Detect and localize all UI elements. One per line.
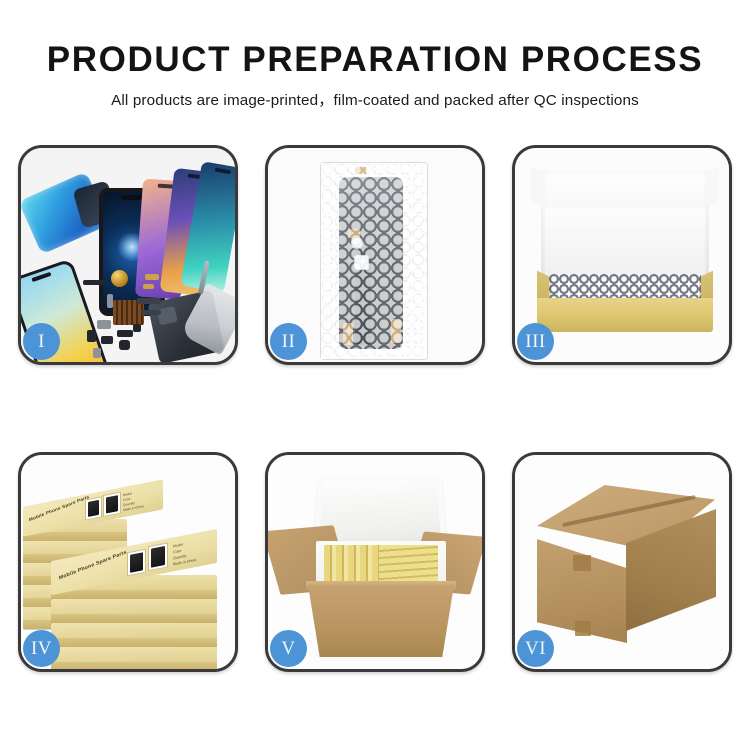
gold-component-shape [111,270,128,287]
page-title: PRODUCT PREPARATION PROCESS [0,41,750,79]
page-subtitle: All products are image-printed，film-coat… [0,88,750,110]
step-panel-5: V [265,452,485,672]
carton-front-shape [308,585,454,657]
retail-box-label: Mobile Phone Spare Parts [29,494,90,522]
step-badge-2: II [270,323,307,360]
step-panel-2: II [265,145,485,365]
step-panel-4: Mobile Phone Spare Parts Model Color Qua… [18,452,238,672]
bubble-fill-shape [549,274,701,300]
step-badge-5: V [270,630,307,667]
product-preparation-infographic: PRODUCT PREPARATION PROCESS All products… [0,0,750,750]
step-panel-3: III [512,145,732,365]
step-panel-1: I [18,145,238,365]
step-badge-1: I [23,323,60,360]
box-interior-shape [545,208,705,280]
step-panel-6: VI [512,452,732,672]
box-front-shape [537,298,713,332]
bubble-pouch-shape [320,162,428,360]
step-badge-4: IV [23,630,60,667]
step-badge-6: VI [517,630,554,667]
step-badge-3: III [517,323,554,360]
